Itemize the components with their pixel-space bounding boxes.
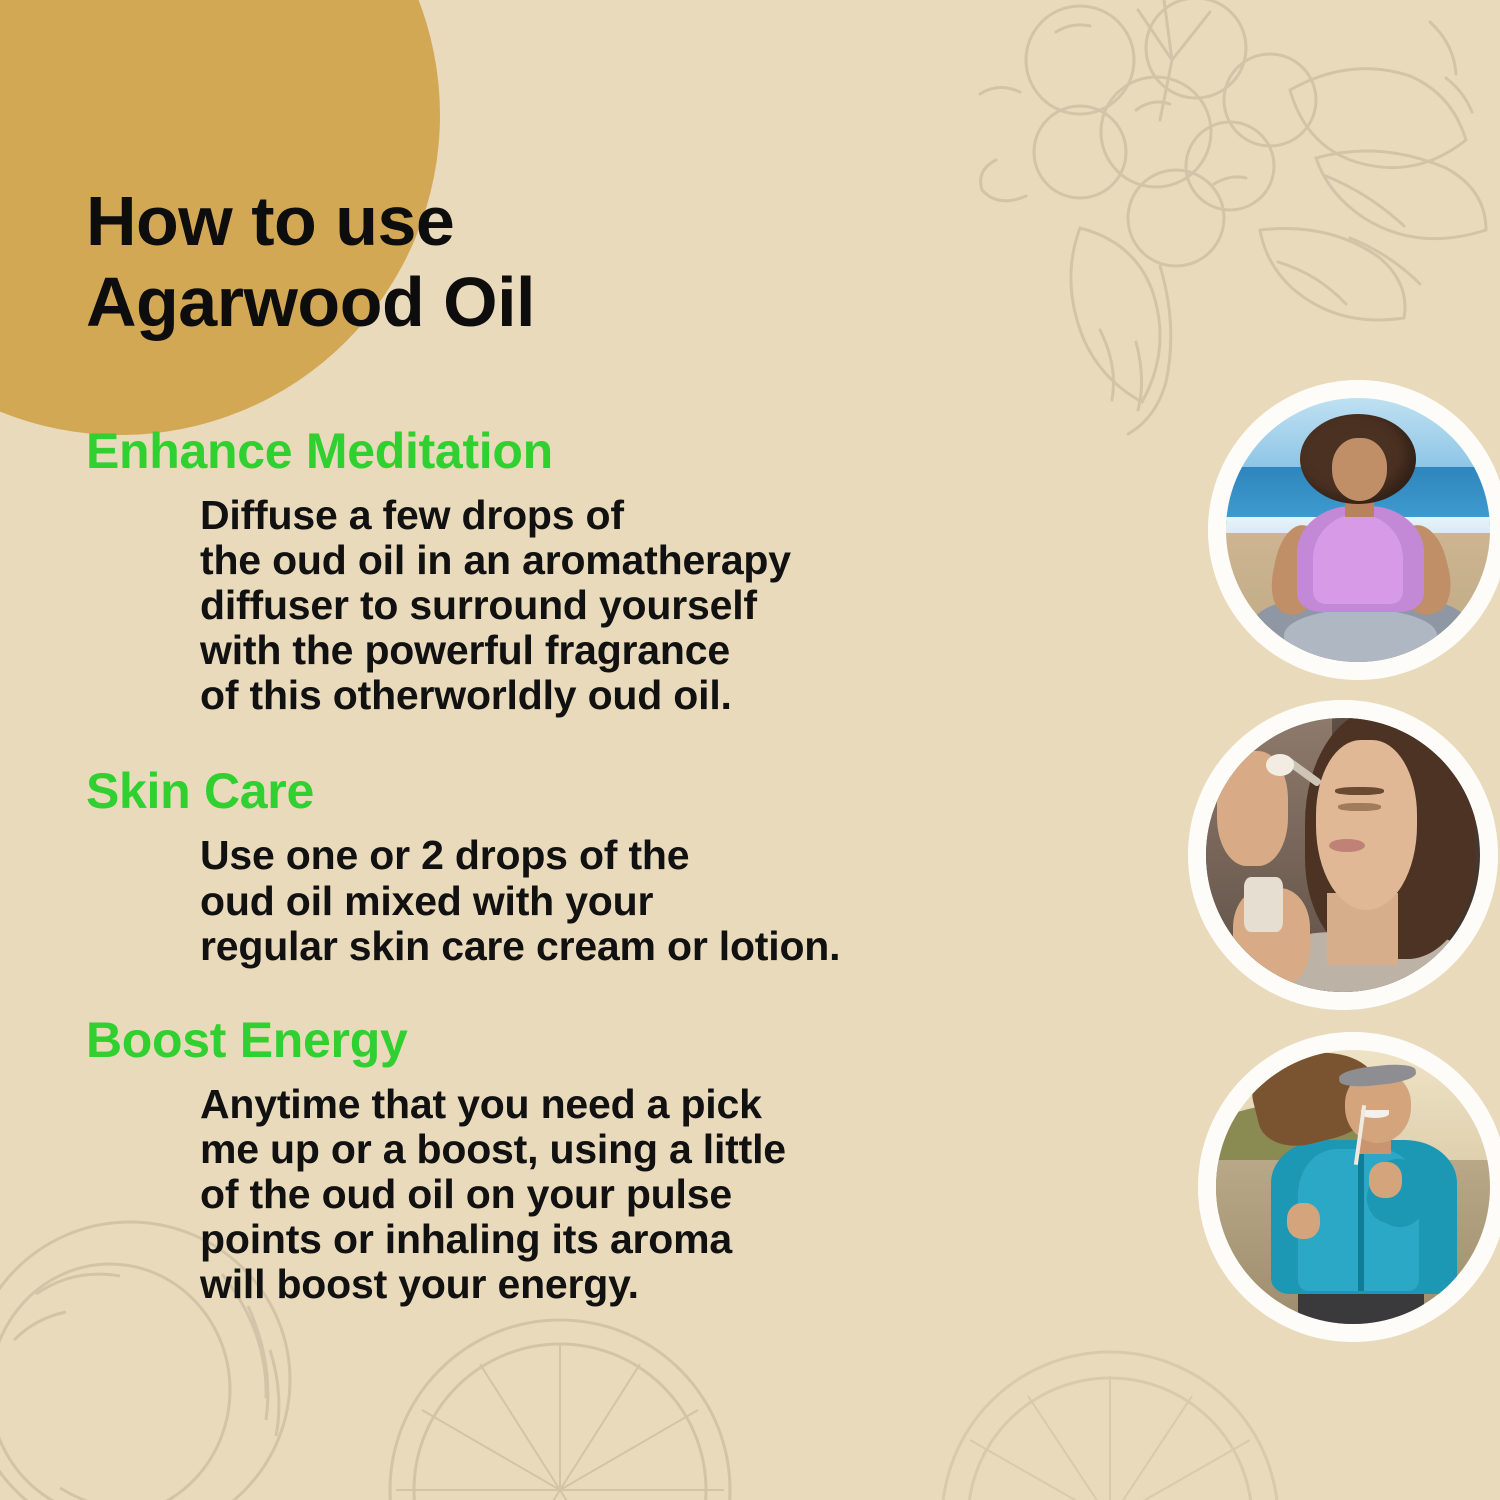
section-skin-care: Skin Care Use one or 2 drops of the oud … <box>0 764 1160 968</box>
section-heading: Skin Care <box>86 764 1160 819</box>
jogging-scene <box>1216 1050 1490 1324</box>
meditation-scene <box>1226 398 1490 662</box>
citrus-slice-watermark <box>360 1280 760 1500</box>
photo-inner <box>1226 398 1490 662</box>
photo-inner <box>1206 718 1480 992</box>
photo-inner <box>1216 1050 1490 1324</box>
page-title: How to use Agarwood Oil <box>86 181 806 343</box>
citrus-slice-watermark <box>900 1320 1320 1500</box>
skincare-scene <box>1206 718 1480 992</box>
poster-canvas: How to use Agarwood Oil Enhance Meditati… <box>0 0 1500 1500</box>
section-body: Diffuse a few drops of the oud oil in an… <box>200 493 1160 718</box>
section-heading: Boost Energy <box>86 1013 1160 1068</box>
sections-list: Enhance Meditation Diffuse a few drops o… <box>0 424 1160 1307</box>
woman-meditating-on-beach-photo <box>1208 380 1500 680</box>
woman-jogging-outdoors-photo <box>1198 1032 1500 1342</box>
section-heading: Enhance Meditation <box>86 424 1160 479</box>
agarwood-fruit-branch-watermark <box>960 0 1500 440</box>
section-enhance-meditation: Enhance Meditation Diffuse a few drops o… <box>0 424 1160 718</box>
section-body: Anytime that you need a pick me up or a … <box>200 1082 1160 1307</box>
section-body: Use one or 2 drops of the oud oil mixed … <box>200 833 1160 968</box>
woman-applying-serum-dropper-photo <box>1188 700 1498 1010</box>
section-boost-energy: Boost Energy Anytime that you need a pic… <box>0 1013 1160 1307</box>
